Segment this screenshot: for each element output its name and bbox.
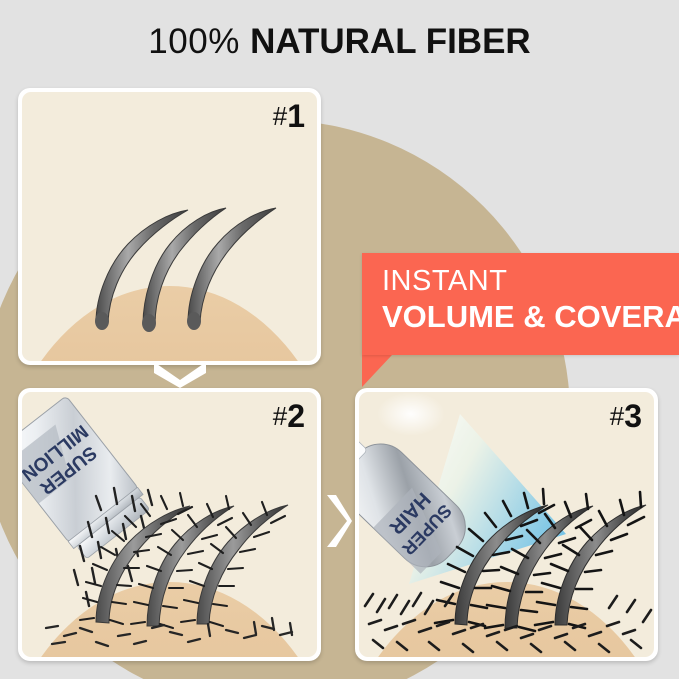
promo-banner-text: INSTANT VOLUME & COVERAGE [382,264,679,336]
infographic-stage: 100% NATURAL FIBER [0,0,679,679]
chevron-down-icon [150,358,210,388]
title-prefix: 100% [148,22,240,61]
page-title: 100% NATURAL FIBER [0,20,679,64]
panel-2-hash: # [273,401,287,431]
panel-1-digit: 1 [287,98,305,134]
panel-2-content: SUPER MILLION [22,392,317,657]
step-panel-1: #1 [18,88,321,365]
spray-mist [377,392,445,436]
step-panel-3: SUPER HAIR [355,388,658,661]
panel-1-number: #1 [273,98,305,134]
scattered-fibers [46,618,292,646]
panel-1-content: #1 [22,92,317,361]
panel-3-content: SUPER HAIR [359,392,654,657]
chevron-right-icon [322,492,352,550]
panel-1-hash: # [273,101,287,131]
panel-2-number: #2 [273,398,305,434]
promo-banner-line1: INSTANT [382,264,679,298]
hair-strand-group [95,208,276,332]
panel-3-hash: # [610,401,624,431]
banner-tail [362,355,392,387]
promo-banner: INSTANT VOLUME & COVERAGE [362,253,679,355]
step-panel-2: SUPER MILLION [18,388,321,661]
promo-banner-line2: VOLUME & COVERAGE [382,298,679,336]
title-emphasis: NATURAL FIBER [250,22,531,61]
shaker-bottle: SUPER MILLION [22,396,153,561]
panel-2-digit: 2 [287,398,305,434]
panel-3-number: #3 [610,398,642,434]
panel-3-digit: 3 [624,398,642,434]
